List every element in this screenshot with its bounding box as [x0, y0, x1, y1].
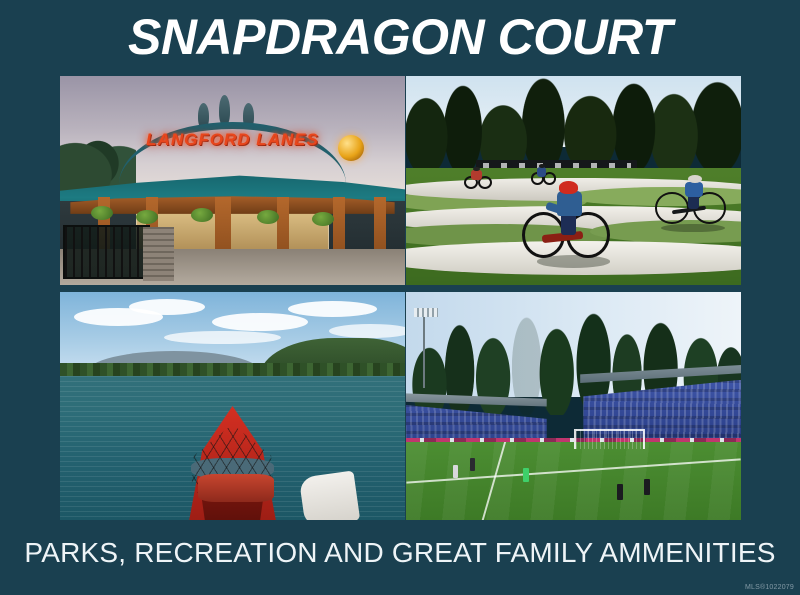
goalkeeper: [523, 468, 529, 482]
hanging-basket: [191, 208, 213, 222]
soccer-stadium-scene: [406, 292, 741, 520]
player: [617, 484, 623, 500]
grandstand-roof: [580, 365, 741, 383]
soccer-pitch: [406, 442, 741, 520]
paddle-blade: [298, 471, 360, 520]
photo-kayak-lake[interactable]: [60, 292, 405, 520]
cyclist: [463, 168, 493, 189]
player: [453, 465, 458, 478]
dry-bag: [198, 474, 274, 501]
rider-helmet: [473, 167, 480, 171]
rider-helmet: [559, 181, 578, 193]
bowling-alley-scene: LANGFORD LANES: [60, 76, 405, 285]
rider-torso: [471, 170, 481, 181]
floodlight-pole: [423, 310, 425, 388]
hanging-basket: [136, 210, 158, 224]
kayak-lake-scene: [60, 292, 405, 520]
cloud: [212, 313, 309, 331]
photo-pump-track[interactable]: [406, 76, 741, 285]
player: [470, 458, 475, 471]
rider-shadow: [661, 224, 724, 233]
caption-text: PARKS, RECREATION AND GREAT FAMILY AMMEN…: [0, 536, 800, 570]
poster-canvas: SNAPDRAGON COURT LANGFORD LANES: [0, 0, 800, 595]
cloud: [129, 299, 205, 315]
iron-gate: [63, 225, 150, 279]
cyclist-foreground: [520, 168, 614, 264]
player: [644, 479, 650, 495]
goal-net: [574, 429, 645, 449]
hanging-basket: [257, 210, 279, 224]
cloud: [329, 324, 405, 338]
cloud: [288, 301, 378, 317]
stone-pillar: [143, 227, 174, 281]
page-title: SNAPDRAGON COURT: [0, 8, 800, 66]
photo-soccer-stadium[interactable]: [406, 292, 741, 520]
langford-lanes-sign: LANGFORD LANES: [129, 130, 336, 150]
mls-watermark: MLS®1022079: [745, 584, 794, 591]
cyclist: [654, 166, 728, 229]
floodlight-head-icon: [414, 308, 437, 317]
hanging-basket: [312, 212, 334, 226]
rider-torso: [685, 182, 703, 198]
grandstand-roof: [406, 392, 547, 406]
pump-track-scene: [406, 76, 741, 285]
photo-bowling-alley[interactable]: LANGFORD LANES: [60, 76, 405, 285]
bowling-ball-icon: [338, 135, 364, 161]
photo-grid: LANGFORD LANES: [60, 76, 741, 520]
hanging-basket: [91, 206, 113, 220]
